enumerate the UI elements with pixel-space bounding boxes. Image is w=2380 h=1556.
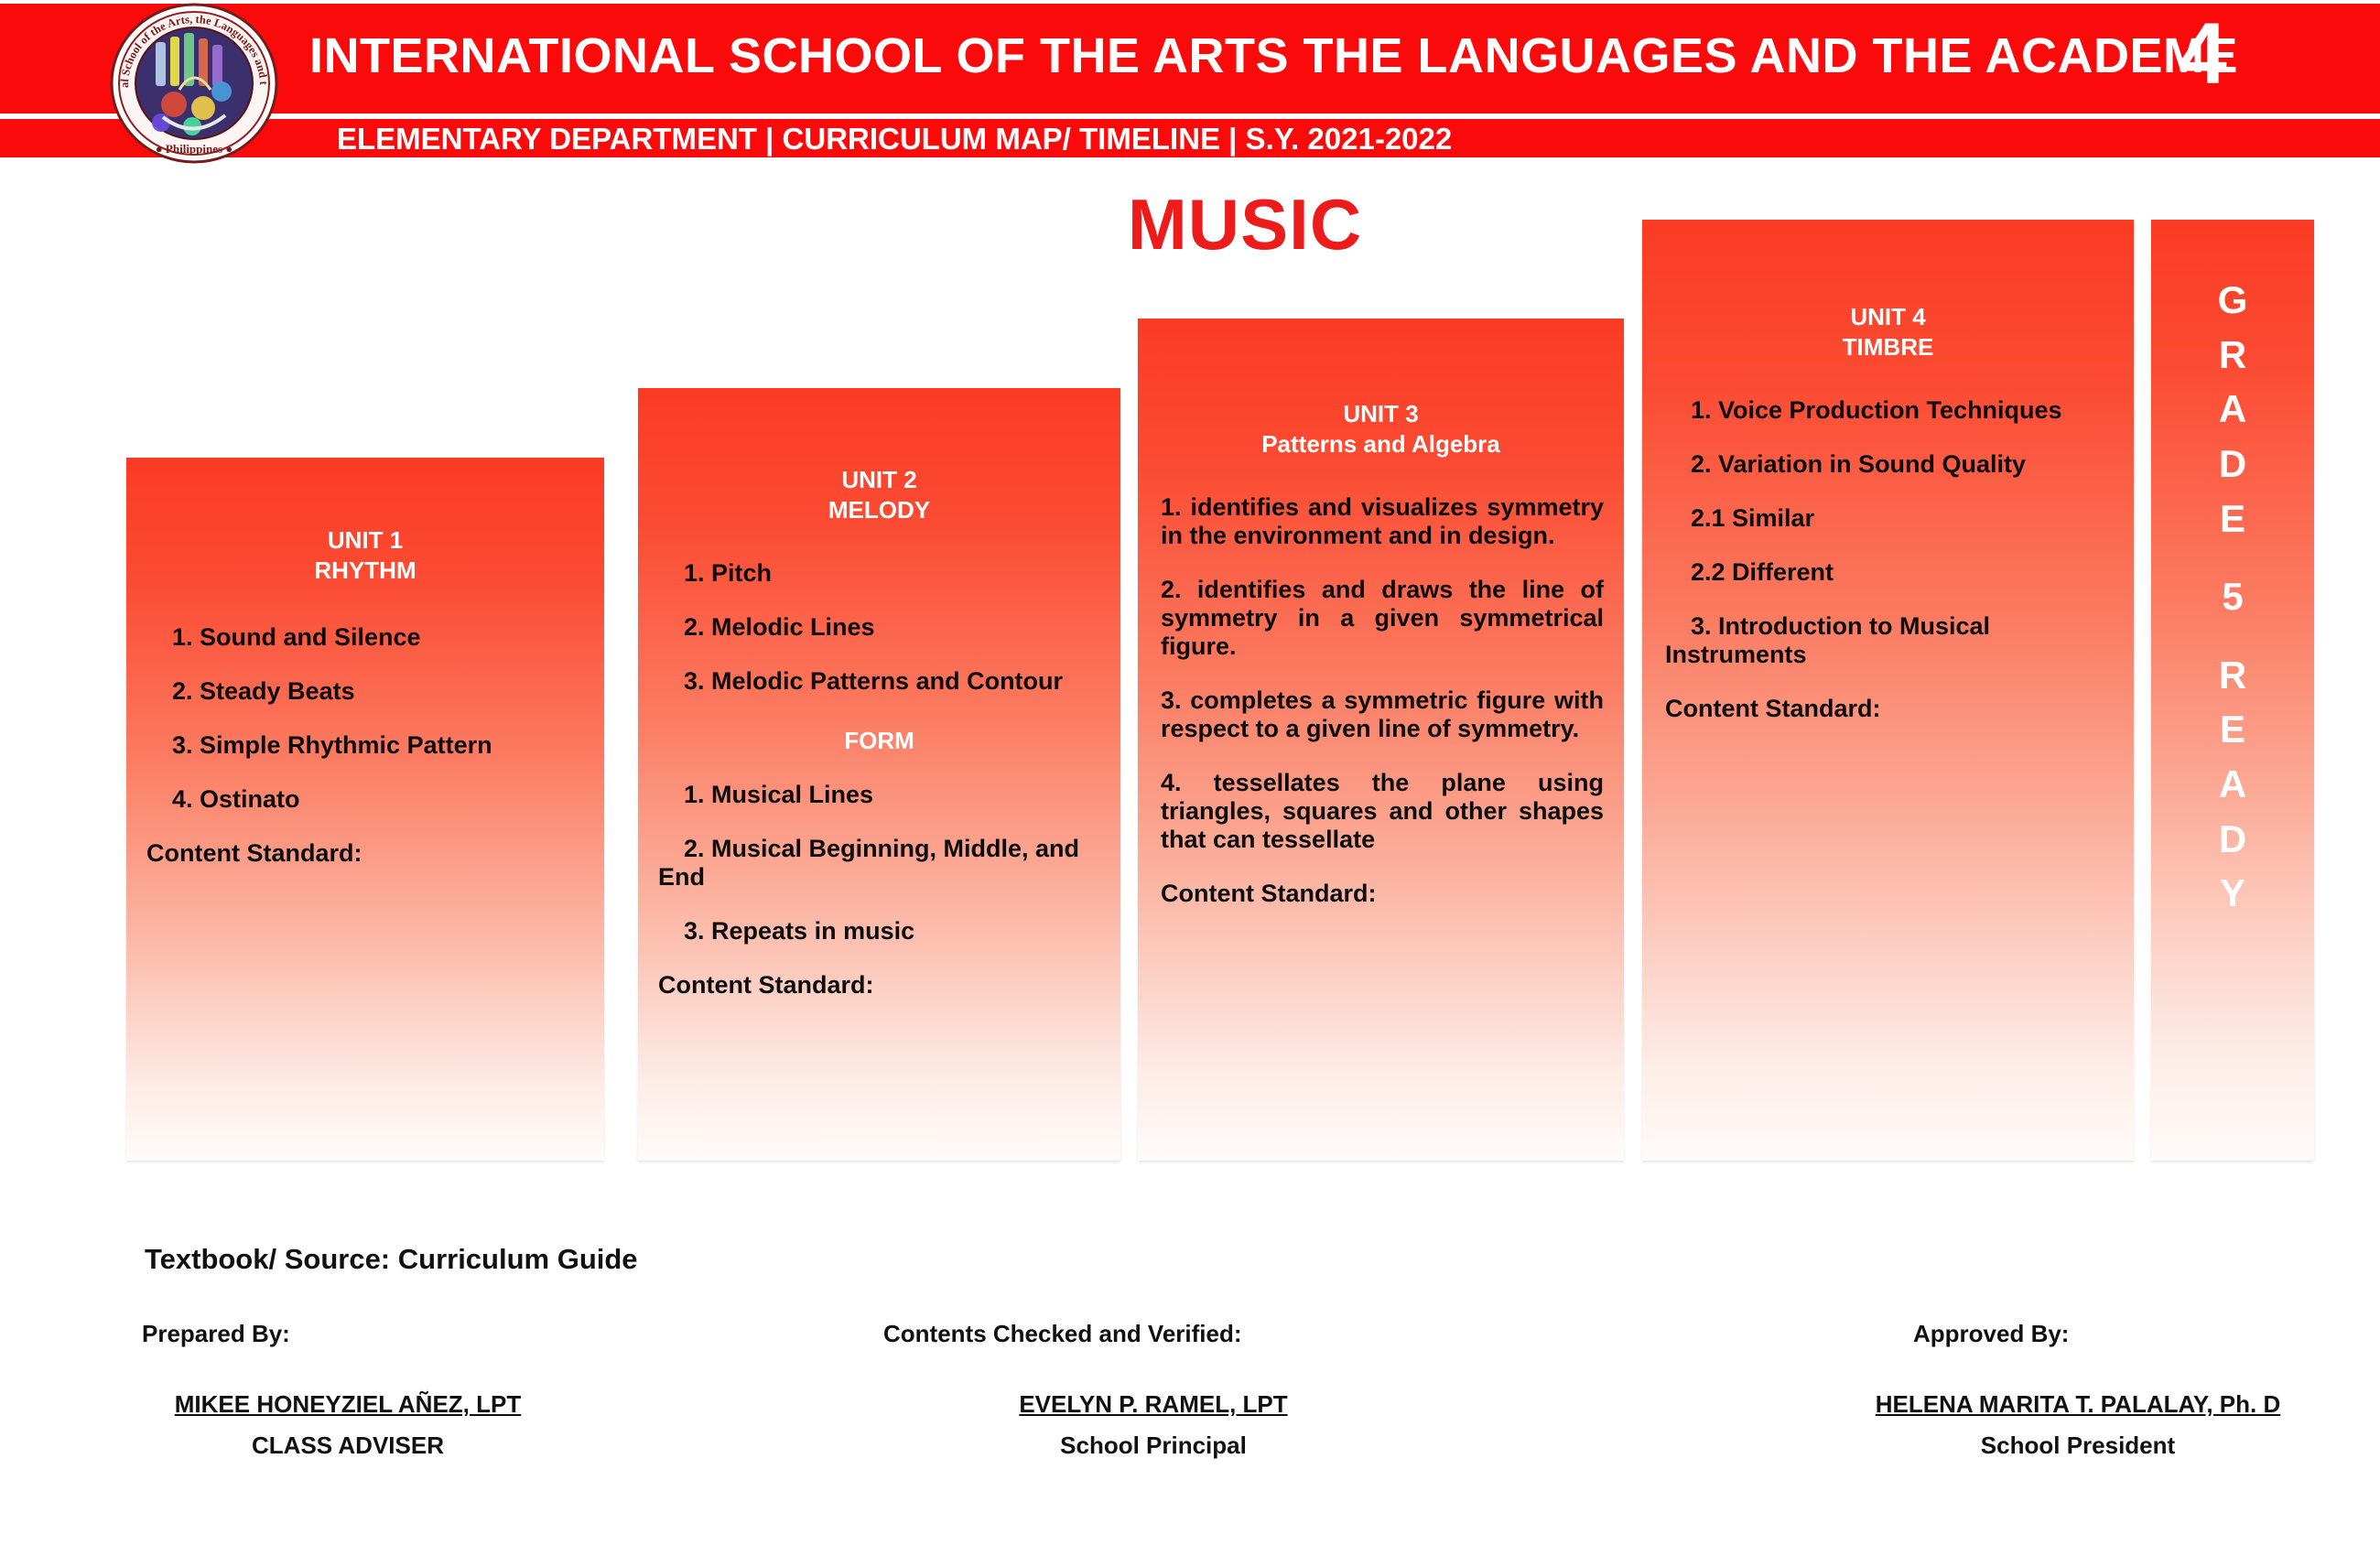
unit-3-item: 4. tessellates the plane using triangles… — [1161, 769, 1604, 854]
unit-1-label: UNIT 1 — [126, 525, 604, 556]
unit-1-name: RHYTHM — [126, 556, 604, 586]
unit-4-item: 3. Introduction to Musical Instruments — [1665, 612, 2114, 669]
unit-4-item: 2. Variation in Sound Quality — [1665, 450, 2114, 479]
signature-approved-by: Approved By: HELENA MARITA T. PALALAY, P… — [1785, 1320, 2371, 1460]
unit-1-item: 3. Simple Rhythmic Pattern — [146, 731, 584, 760]
signature-label: Approved By: — [1785, 1320, 2371, 1348]
unit-3-heading: UNIT 3 Patterns and Algebra — [1138, 319, 1624, 460]
grade-ready-letter: 5 — [2151, 569, 2314, 624]
unit-card-1: UNIT 1 RHYTHM 1. Sound and Silence 2. St… — [126, 458, 604, 1161]
signature-role: CLASS ADVISER — [55, 1432, 641, 1460]
unit-1-item: 4. Ostinato — [146, 785, 584, 814]
unit-1-heading: UNIT 1 RHYTHM — [126, 458, 604, 587]
grade-ready-letter: A — [2151, 382, 2314, 437]
unit-2-name: MELODY — [638, 495, 1120, 525]
grade-ready-spacer — [2151, 546, 2314, 569]
signature-role: School Principal — [860, 1432, 1446, 1460]
unit-4-item: 2.1 Similar — [1665, 504, 2114, 533]
unit-1-item: 1. Sound and Silence — [146, 623, 584, 652]
grade-ready-letter: R — [2151, 648, 2314, 703]
unit-4-item: 2.2 Different — [1665, 558, 2114, 587]
unit-2-item: 1. Pitch — [658, 559, 1100, 588]
unit-1-item: 2. Steady Beats — [146, 677, 584, 706]
unit-4-body: 1. Voice Production Techniques 2. Variat… — [1642, 363, 2134, 723]
signature-name: EVELYN P. RAMEL, LPT — [860, 1390, 1446, 1419]
unit-card-3: UNIT 3 Patterns and Algebra 1. identifie… — [1138, 319, 1624, 1161]
unit-3-item: 1. identifies and visualizes symmetry in… — [1161, 493, 1604, 550]
unit-card-4: UNIT 4 TIMBRE 1. Voice Production Techni… — [1642, 220, 2134, 1161]
page-title: MUSIC — [1053, 183, 1437, 266]
signature-name: HELENA MARITA T. PALALAY, Ph. D — [1785, 1390, 2371, 1419]
grade-ready-letter: E — [2151, 492, 2314, 546]
signature-prepared-by: Prepared By: MIKEE HONEYZIEL AÑEZ, LPT C… — [55, 1320, 641, 1460]
unit-2-subsection-heading: FORM — [658, 727, 1100, 755]
grade-ready-letter: G — [2151, 273, 2314, 328]
unit-2-body: 1. Pitch 2. Melodic Lines 3. Melodic Pat… — [638, 526, 1120, 1000]
unit-1-content-standard: Content Standard: — [146, 839, 584, 868]
grade-ready-letters: G R A D E 5 R E A D Y — [2151, 220, 2314, 921]
unit-2-sub-item: 3. Repeats in music — [658, 917, 1100, 945]
unit-2-item: 3. Melodic Patterns and Contour — [658, 667, 1100, 696]
signature-checked-verified: Contents Checked and Verified: EVELYN P.… — [860, 1320, 1446, 1460]
unit-4-item: 1. Voice Production Techniques — [1665, 396, 2114, 425]
unit-2-item: 2. Melodic Lines — [658, 613, 1100, 642]
school-name: INTERNATIONAL SCHOOL OF THE ARTS THE LAN… — [309, 27, 2238, 84]
signature-label: Contents Checked and Verified: — [860, 1320, 1446, 1348]
school-seal-icon: ● Philippines ● International School of … — [108, 2, 280, 165]
unit-3-body: 1. identifies and visualizes symmetry in… — [1138, 460, 1624, 908]
signature-role: School President — [1785, 1432, 2371, 1460]
unit-3-content-standard: Content Standard: — [1161, 880, 1604, 908]
unit-3-item: 3. completes a symmetric figure with res… — [1161, 686, 1604, 743]
unit-1-body: 1. Sound and Silence 2. Steady Beats 3. … — [126, 587, 604, 868]
grade-ready-letter: Y — [2151, 866, 2314, 921]
grade-ready-letter: D — [2151, 812, 2314, 867]
unit-3-label: UNIT 3 — [1138, 399, 1624, 429]
unit-3-item: 2. identifies and draws the line of symm… — [1161, 576, 1604, 661]
header-subtitle: ELEMENTARY DEPARTMENT | CURRICULUM MAP/ … — [337, 122, 1452, 157]
textbook-source: Textbook/ Source: Curriculum Guide — [145, 1243, 638, 1276]
signature-label: Prepared By: — [55, 1320, 641, 1348]
unit-4-label: UNIT 4 — [1642, 302, 2134, 332]
unit-4-content-standard: Content Standard: — [1665, 695, 2114, 723]
page-header: ● Philippines ● International School of … — [0, 0, 2380, 165]
unit-4-name: TIMBRE — [1642, 332, 2134, 362]
unit-2-label: UNIT 2 — [638, 465, 1120, 495]
unit-card-2: UNIT 2 MELODY 1. Pitch 2. Melodic Lines … — [638, 388, 1120, 1161]
unit-2-sub-item: 1. Musical Lines — [658, 781, 1100, 809]
unit-2-content-standard: Content Standard: — [658, 971, 1100, 1000]
grade-ready-banner: G R A D E 5 R E A D Y — [2151, 220, 2314, 1161]
grade-ready-spacer — [2151, 624, 2314, 648]
unit-4-heading: UNIT 4 TIMBRE — [1642, 220, 2134, 363]
grade-ready-letter: D — [2151, 437, 2314, 492]
grade-ready-letter: E — [2151, 702, 2314, 757]
unit-2-heading: UNIT 2 MELODY — [638, 388, 1120, 526]
grade-number-badge: 4 — [2179, 11, 2227, 98]
grade-ready-letter: R — [2151, 328, 2314, 383]
signature-name: MIKEE HONEYZIEL AÑEZ, LPT — [55, 1390, 641, 1419]
svg-text:● Philippines ●: ● Philippines ● — [156, 142, 233, 156]
unit-2-sub-item: 2. Musical Beginning, Middle, and End — [658, 835, 1100, 891]
grade-ready-letter: A — [2151, 757, 2314, 812]
unit-3-name: Patterns and Algebra — [1138, 429, 1624, 459]
